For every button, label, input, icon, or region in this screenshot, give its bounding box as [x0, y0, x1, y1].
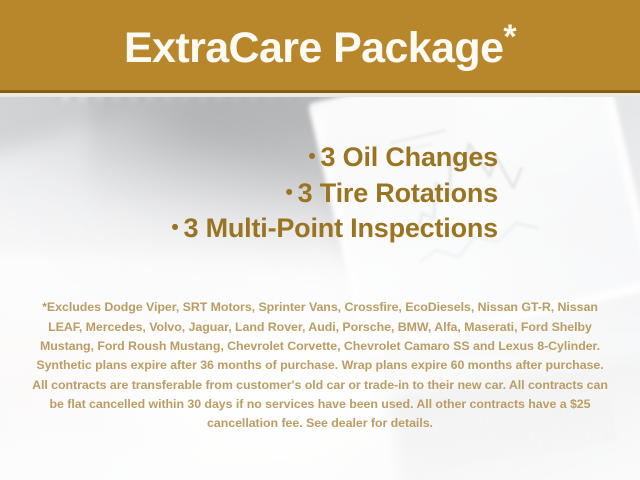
page-title-text: ExtraCare Package: [124, 24, 503, 72]
header-band-hairline: [0, 93, 640, 97]
benefit-item-multi-point-inspections: •3 Multi-Point Inspections: [0, 211, 498, 247]
header-band: ExtraCare Package*: [0, 0, 640, 93]
bullet-icon: •: [286, 181, 293, 204]
benefit-item-tire-rotations: •3 Tire Rotations: [0, 176, 498, 212]
page-title: ExtraCare Package*: [124, 20, 516, 74]
benefit-item-oil-changes: •3 Oil Changes: [0, 140, 498, 176]
benefit-item-label: 3 Multi-Point Inspections: [183, 213, 498, 243]
benefit-item-label: 3 Oil Changes: [321, 142, 498, 172]
disclaimer-text: *Excludes Dodge Viper, SRT Motors, Sprin…: [28, 298, 612, 433]
bullet-icon: •: [308, 145, 315, 168]
page-title-asterisk: *: [503, 18, 516, 56]
extracare-package-promo-card: ExtraCare Package* •3 Oil Changes •3 Tir…: [0, 0, 640, 480]
benefits-list: •3 Oil Changes •3 Tire Rotations •3 Mult…: [0, 140, 640, 247]
benefit-item-label: 3 Tire Rotations: [298, 178, 498, 208]
bullet-icon: •: [171, 216, 178, 239]
